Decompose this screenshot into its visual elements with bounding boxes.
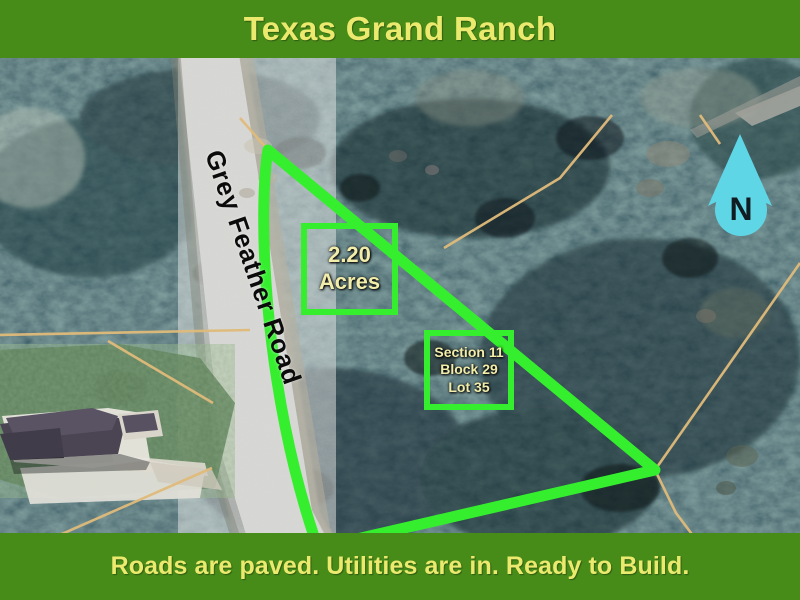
listing-map-graphic: Texas Grand Ranch <box>0 0 800 600</box>
aerial-map-image <box>0 58 800 533</box>
footer-tagline: Roads are paved. Utilities are in. Ready… <box>111 552 690 581</box>
footer-banner: Roads are paved. Utilities are in. Ready… <box>0 533 800 600</box>
page-title: Texas Grand Ranch <box>244 10 557 48</box>
map-viewport[interactable] <box>0 58 800 533</box>
homesite <box>0 344 235 504</box>
header-banner: Texas Grand Ranch <box>0 0 800 58</box>
